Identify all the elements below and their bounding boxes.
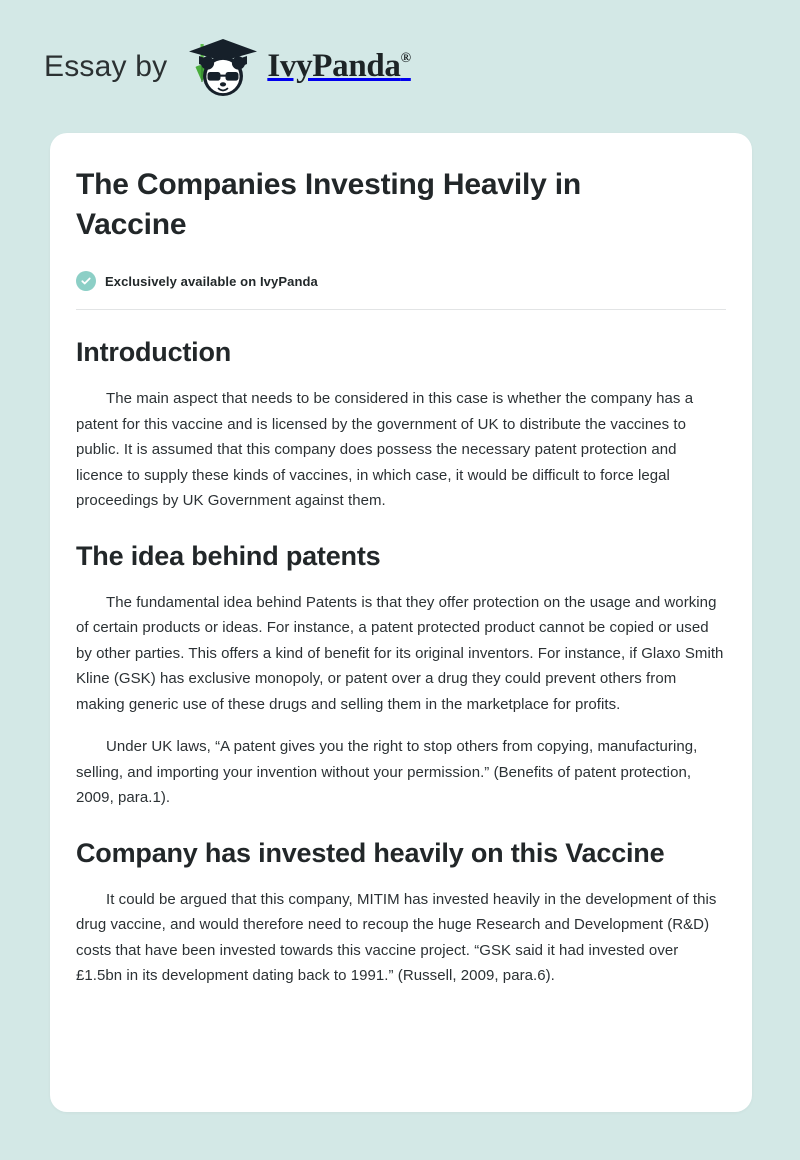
section-heading-introduction: Introduction bbox=[76, 335, 726, 369]
check-circle-icon bbox=[76, 271, 96, 291]
section-paragraph: The main aspect that needs to be conside… bbox=[76, 386, 726, 514]
brand-name-text: IvyPanda bbox=[267, 48, 400, 84]
exclusivity-badge-label: Exclusively available on IvyPanda bbox=[105, 274, 318, 289]
brand-wordmark: IvyPanda® bbox=[267, 48, 410, 85]
section-paragraph: It could be argued that this company, MI… bbox=[76, 887, 726, 989]
section-heading-company-has-invested-heavily: Company has invested heavily on this Vac… bbox=[76, 836, 726, 870]
page-title: The Companies Investing Heavily in Vacci… bbox=[76, 165, 676, 245]
exclusivity-badge: Exclusively available on IvyPanda bbox=[76, 271, 726, 291]
essay-document-card: The Companies Investing Heavily in Vacci… bbox=[50, 133, 752, 1112]
page-header: Essay by bbox=[0, 0, 800, 133]
section-paragraph: Under UK laws, “A patent gives you the r… bbox=[76, 734, 726, 811]
section-heading-the-idea-behind-patents: The idea behind patents bbox=[76, 539, 726, 573]
essay-by-label: Essay by bbox=[44, 50, 167, 84]
registered-trademark-icon: ® bbox=[401, 51, 411, 66]
ivypanda-brand-logo[interactable]: IvyPanda® bbox=[185, 36, 410, 98]
section-paragraph: The fundamental idea behind Patents is t… bbox=[76, 590, 726, 718]
header-divider bbox=[76, 309, 726, 310]
ivypanda-panda-graduate-icon bbox=[185, 36, 267, 98]
